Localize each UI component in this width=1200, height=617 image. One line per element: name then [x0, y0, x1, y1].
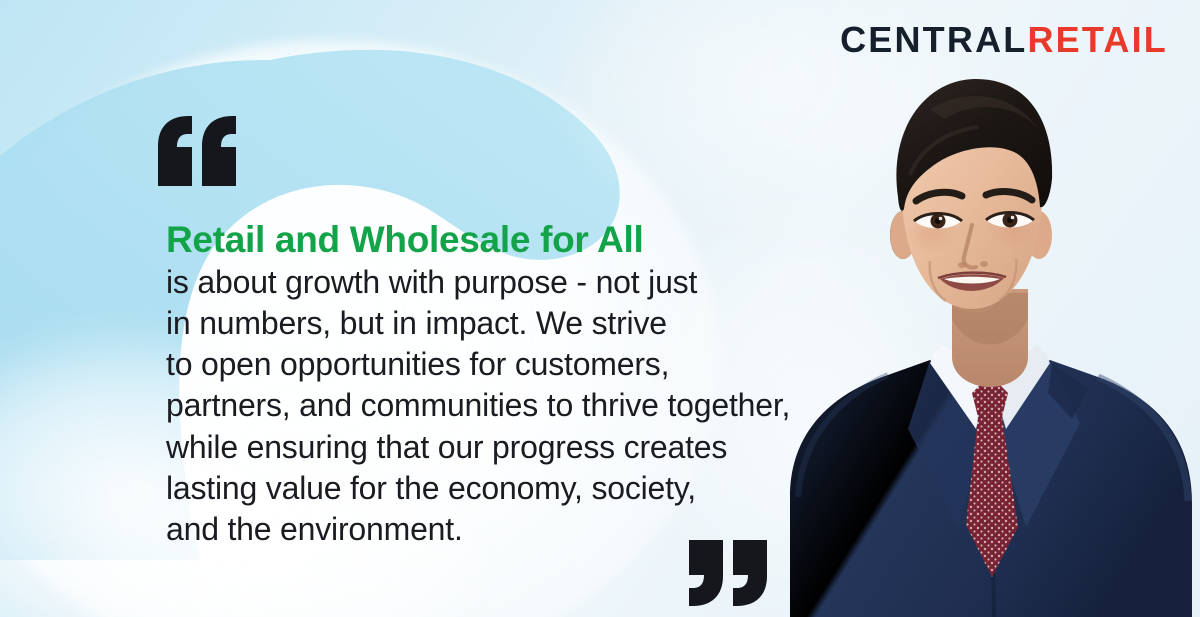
quote-banner: CENTRALRETAIL Retail and Wholesale for A…: [0, 0, 1200, 617]
logo-text-retail: RETAIL: [1027, 19, 1168, 60]
quote-text-block: Retail and Wholesale for All is about gr…: [166, 218, 806, 551]
central-retail-logo: CENTRALRETAIL: [840, 22, 1168, 58]
quote-body-line: is about growth with purpose - not just: [166, 262, 806, 303]
quote-body-line: while ensuring that our progress creates: [166, 427, 806, 468]
quote-body-line: partners, and communities to thrive toge…: [166, 385, 806, 426]
executive-portrait: [780, 57, 1200, 617]
quote-body-line: lasting value for the economy, society,: [166, 468, 806, 509]
opening-quote-mark-icon: [158, 116, 236, 188]
quote-headline: Retail and Wholesale for All: [166, 218, 806, 262]
quote-body: is about growth with purpose - not just …: [166, 262, 806, 551]
closing-quote-mark-icon: [688, 540, 768, 606]
logo-text-central: CENTRAL: [840, 19, 1027, 60]
quote-body-line: to open opportunities for customers,: [166, 344, 806, 385]
quote-body-line: in numbers, but in impact. We strive: [166, 303, 806, 344]
